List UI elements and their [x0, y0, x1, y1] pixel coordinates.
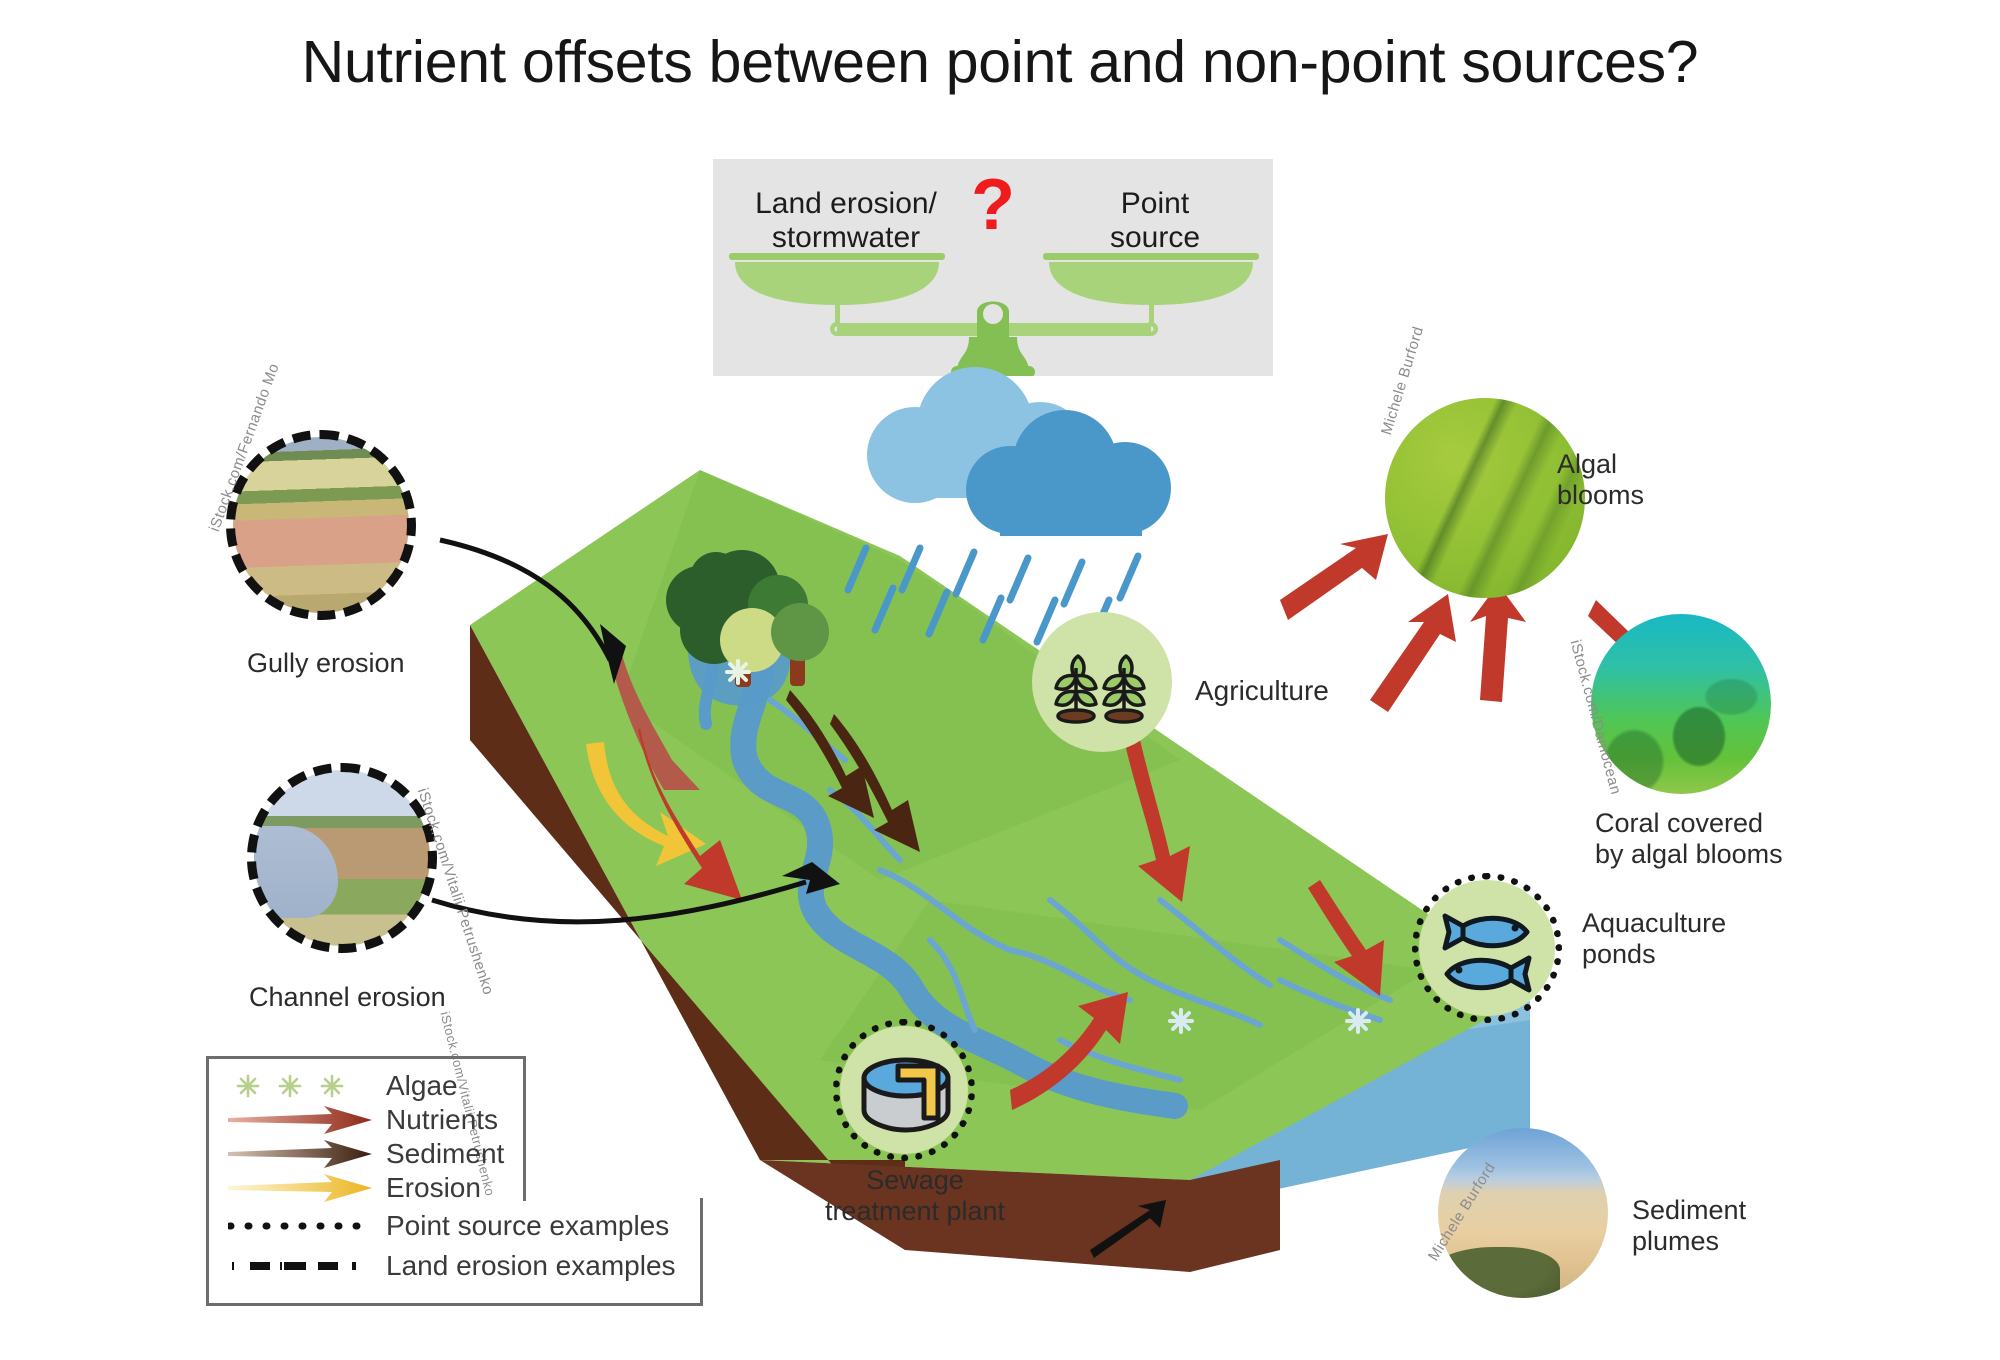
sediment-arrow-a: [786, 690, 874, 818]
sewage-label-line2: treatment plant: [825, 1196, 1005, 1226]
channel-erosion-dashed-ring: [247, 763, 437, 953]
algae-symbols-icon: [228, 1070, 376, 1102]
coral-photo: [1591, 614, 1771, 794]
balance-panel: Land erosion/ stormwater Point source ?: [713, 159, 1273, 376]
coral-caption-line2: by algal blooms: [1595, 839, 1783, 869]
yellow-arrow-icon: [228, 1172, 376, 1204]
gully-erosion-dashed-ring: [226, 430, 416, 620]
red-arrow-icon: [228, 1104, 376, 1136]
legend-label-land-erosion: Land erosion examples: [376, 1250, 676, 1282]
algal-blooms-caption: Algal blooms: [1557, 449, 1644, 512]
legend-row-land-erosion: Land erosion examples: [228, 1246, 676, 1286]
river-pond: [688, 597, 790, 706]
legend-label-point-source: Point source examples: [376, 1210, 669, 1242]
aquaculture-label: Aquaculture ponds: [1582, 908, 1726, 971]
nutrient-arrow-sewage: [1010, 992, 1128, 1110]
sediment-plumes-caption-line2: plumes: [1632, 1226, 1719, 1256]
channel-erosion-caption: Channel erosion: [249, 982, 446, 1013]
brown-arrow-icon: [228, 1138, 376, 1170]
sediment-wedge-left: [608, 640, 700, 790]
sewage-dotted-ring: [833, 1019, 975, 1161]
pointer-arrow-gully: [440, 540, 610, 660]
sediment-arrow-b: [830, 714, 920, 852]
erosion-arrow: [586, 742, 706, 866]
river-tributaries: [770, 700, 1390, 1080]
sediment-plumes-caption-line1: Sediment: [1632, 1195, 1746, 1225]
nutrient-arrow-agriculture: [1126, 740, 1190, 902]
legend-label-erosion: Erosion: [376, 1172, 481, 1204]
legend: Algae Nutrients: [206, 1056, 703, 1306]
crop-plants-icon: [1032, 612, 1172, 752]
page-title: Nutrient offsets between point and non-p…: [0, 28, 2000, 96]
legend-label-sediment: Sediment: [376, 1138, 504, 1170]
nutrient-arrow-left: [638, 728, 742, 900]
legend-row-point-source: Point source examples: [228, 1206, 669, 1246]
sewage-label: Sewage treatment plant: [790, 1165, 1040, 1228]
coral-caption: Coral covered by algal blooms: [1595, 808, 1783, 871]
diagram-canvas: Nutrient offsets between point and non-p…: [0, 0, 2000, 1360]
pointer-arrow-channel: [432, 882, 806, 922]
balance-scale-icon: [713, 159, 1273, 376]
legend-label-nutrients: Nutrients: [376, 1104, 498, 1136]
dotted-line-icon: [228, 1210, 376, 1242]
aquaculture-label-line2: ponds: [1582, 939, 1656, 969]
rain-cloud-icon: [848, 367, 1171, 642]
agriculture-label: Agriculture: [1195, 675, 1329, 707]
sediment-plumes-caption: Sediment plumes: [1632, 1195, 1746, 1258]
coral-caption-line1: Coral covered: [1595, 808, 1763, 838]
nutrient-arrow-aquaculture: [1308, 880, 1384, 996]
algal-blooms-caption-line2: blooms: [1557, 480, 1644, 510]
legend-label-algae: Algae: [376, 1070, 458, 1102]
agriculture-bubble: [1032, 612, 1172, 752]
algal-blooms-photo: [1385, 398, 1585, 598]
legend-row-erosion: Erosion: [228, 1168, 481, 1208]
aquaculture-dotted-ring: [1412, 873, 1562, 1023]
sewage-label-line1: Sewage: [866, 1165, 964, 1195]
aquaculture-label-line1: Aquaculture: [1582, 908, 1726, 938]
dashed-line-icon: [228, 1250, 376, 1282]
trees-icon: [666, 550, 829, 687]
algal-blooms-caption-line1: Algal: [1557, 449, 1617, 479]
gully-erosion-caption: Gully erosion: [247, 648, 405, 679]
